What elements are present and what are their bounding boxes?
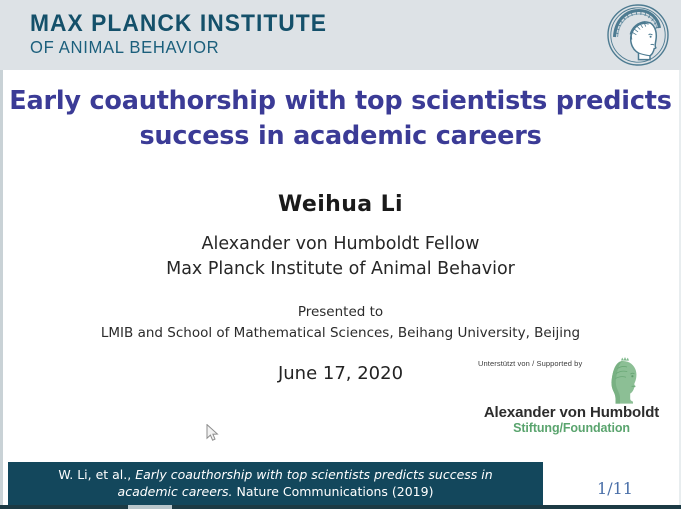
max-planck-wordmark: MAX PLANCK INSTITUTE OF ANIMAL BEHAVIOR (30, 11, 343, 57)
window-bottom-strip-highlight (128, 505, 172, 509)
citation-journal: Nature Communications (2019) (233, 484, 434, 499)
citation-authors: W. Li, et al., (58, 467, 135, 482)
citation-line2: academic careers. Nature Communications … (118, 484, 434, 501)
presented-to-block: Presented to LMIB and School of Mathemat… (0, 302, 681, 343)
institute-name-line1: MAX PLANCK INSTITUTE (30, 11, 327, 36)
humboldt-foundation-name: Alexander von Humboldt (478, 404, 665, 421)
author-affiliation: Alexander von Humboldt Fellow Max Planck… (0, 232, 681, 283)
affiliation-line1: Alexander von Humboldt Fellow (0, 232, 681, 257)
slide-title-line2: success in academic careers (0, 119, 681, 154)
affiliation-line2: Max Planck Institute of Animal Behavior (0, 257, 681, 282)
presentation-slide: MAX PLANCK INSTITUTE OF ANIMAL BEHAVIOR (0, 0, 681, 505)
author-name: Weihua Li (0, 192, 681, 217)
citation-line1: W. Li, et al., Early coauthorship with t… (58, 467, 492, 484)
humboldt-foundation-subtitle: Stiftung/Foundation (478, 421, 665, 435)
window-bottom-strip (0, 505, 681, 509)
institute-name-line2: OF ANIMAL BEHAVIOR (30, 38, 327, 57)
slide-page-number: 1/11 (560, 479, 670, 498)
slide-header-band: MAX PLANCK INSTITUTE OF ANIMAL BEHAVIOR (0, 0, 681, 70)
footer-citation-text: W. Li, et al., Early coauthorship with t… (8, 462, 543, 505)
slide-title: Early coauthorship with top scientists p… (0, 84, 681, 154)
citation-title-part2: academic careers. (118, 484, 233, 499)
humboldt-foundation-logo: Unterstützt von / Supported by Alexander… (470, 357, 665, 437)
slide-title-line1: Early coauthorship with top scientists p… (0, 84, 681, 119)
humboldt-profile-head-icon (607, 355, 643, 405)
mouse-pointer-cursor (206, 424, 220, 442)
citation-title-part1: Early coauthorship with top scientists p… (135, 467, 492, 482)
humboldt-supported-by-label: Unterstützt von / Supported by (478, 359, 582, 368)
minerva-head-logo (606, 3, 670, 67)
presented-to-label: Presented to (0, 302, 681, 323)
footer-citation-bar: W. Li, et al., Early coauthorship with t… (8, 462, 543, 505)
presented-to-venue: LMIB and School of Mathematical Sciences… (0, 323, 681, 344)
